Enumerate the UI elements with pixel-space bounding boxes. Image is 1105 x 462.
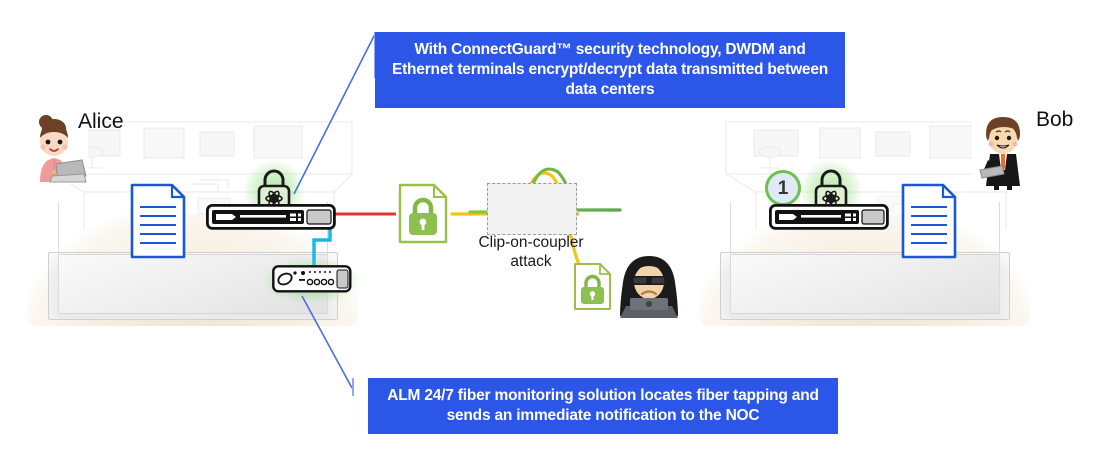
- banner-connectguard: With ConnectGuard™ security technology, …: [375, 32, 845, 108]
- diagram-canvas: Clip-on-coupler attack: [0, 0, 1105, 462]
- person-name-bob: Bob: [1036, 108, 1073, 132]
- hacker-with-laptop-icon: [612, 252, 686, 320]
- person-card-bob: [972, 112, 1034, 190]
- dwdm-terminal-right: [769, 204, 889, 230]
- document-right: [901, 183, 957, 259]
- encrypted-document-icon-captured: [572, 262, 614, 312]
- man-with-tablet-icon: [972, 112, 1034, 190]
- leader-line-top: [280, 30, 390, 200]
- dwdm-terminal-left: [206, 204, 336, 230]
- encrypted-document-icon-main: [396, 182, 452, 246]
- banner-alm-monitoring: ALM 24/7 fiber monitoring solution locat…: [368, 378, 838, 434]
- document-left: [130, 183, 186, 259]
- person-name-alice: Alice: [78, 110, 124, 134]
- clip-on-coupler-box: [487, 183, 577, 235]
- step-badge-1: 1: [765, 170, 801, 206]
- coupler-label-line1: Clip-on-coupler: [455, 233, 607, 252]
